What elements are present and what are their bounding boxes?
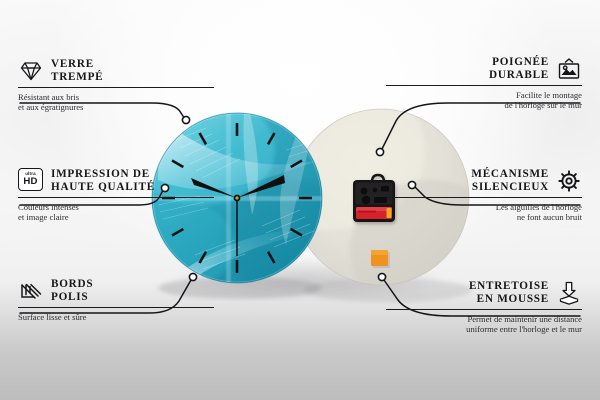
feature-title-line2: TREMPÉ [51,71,103,84]
feature-title-line1: IMPRESSION DE [51,168,155,181]
feature-title-line2: EN MOUSSE [469,293,549,306]
feature-desc-line1: Résistant aux bris [18,92,214,102]
node-poignee[interactable] [376,148,383,155]
diamond-icon [18,58,44,84]
divider [386,309,582,310]
divider [386,85,582,86]
feature-title-line2: POLIS [51,291,93,304]
feature-entretoise-en-mousse: ENTRETOISE EN MOUSSE Permet de maintenir… [386,280,582,334]
feature-title-line1: POIGNÉE [489,56,549,69]
feature-title-line1: ENTRETOISE [469,280,549,293]
feature-title-line1: MÉCANISME [471,168,549,181]
divider [18,197,214,198]
feature-title-line1: BORDS [51,278,93,291]
feature-impression-haute-qualite: ultra HD IMPRESSION DE HAUTE QUALITÉ Cou… [18,168,214,222]
divider [18,307,214,308]
product-infographic: VERRE TREMPÉ Résistant aux bris et aux é… [0,0,600,400]
gear-icon [556,168,582,194]
feature-poignee-durable: POIGNÉE DURABLE Facilite le montage de l… [386,56,582,110]
feature-title-line1: VERRE [51,58,103,71]
feature-desc-line2: de l'horloge sur le mur [386,100,582,110]
feature-desc-line2: et aux égratignures [18,102,214,112]
feature-title-line2: HAUTE QUALITÉ [51,181,155,194]
feature-desc-line2: ne font aucun bruit [386,212,582,222]
feature-desc-line2: et image claire [18,212,214,222]
feature-title-line2: SILENCIEUX [471,181,549,194]
feature-desc-line1: Les aiguilles de l'horloge [386,202,582,212]
foam-spacer-arrow-icon [556,280,582,306]
hd-badge-hd-label: HD [23,177,37,187]
picture-hanger-icon [556,56,582,82]
node-entretoise[interactable] [378,273,385,280]
feature-desc-line2: uniforme entre l'horloge et le mur [386,324,582,334]
feature-desc-line1: Surface lisse et sûre [18,312,214,322]
node-verre[interactable] [182,116,189,123]
polished-edges-icon [18,278,44,304]
feature-mecanisme-silencieux: MÉCANISME SILENCIEUX Les aiguilles de l [386,168,582,222]
divider [18,87,214,88]
divider [386,197,582,198]
feature-desc-line1: Facilite le montage [386,90,582,100]
feature-desc-line1: Permet de maintenir une distance [386,314,582,324]
ultra-hd-badge-icon: ultra HD [18,168,44,194]
feature-verre-trempe: VERRE TREMPÉ Résistant aux bris et aux é… [18,58,214,112]
feature-bords-polis: BORDS POLIS Surface lisse et sûre [18,278,214,322]
feature-title-line2: DURABLE [489,69,549,82]
feature-desc-line1: Couleurs intenses [18,202,214,212]
